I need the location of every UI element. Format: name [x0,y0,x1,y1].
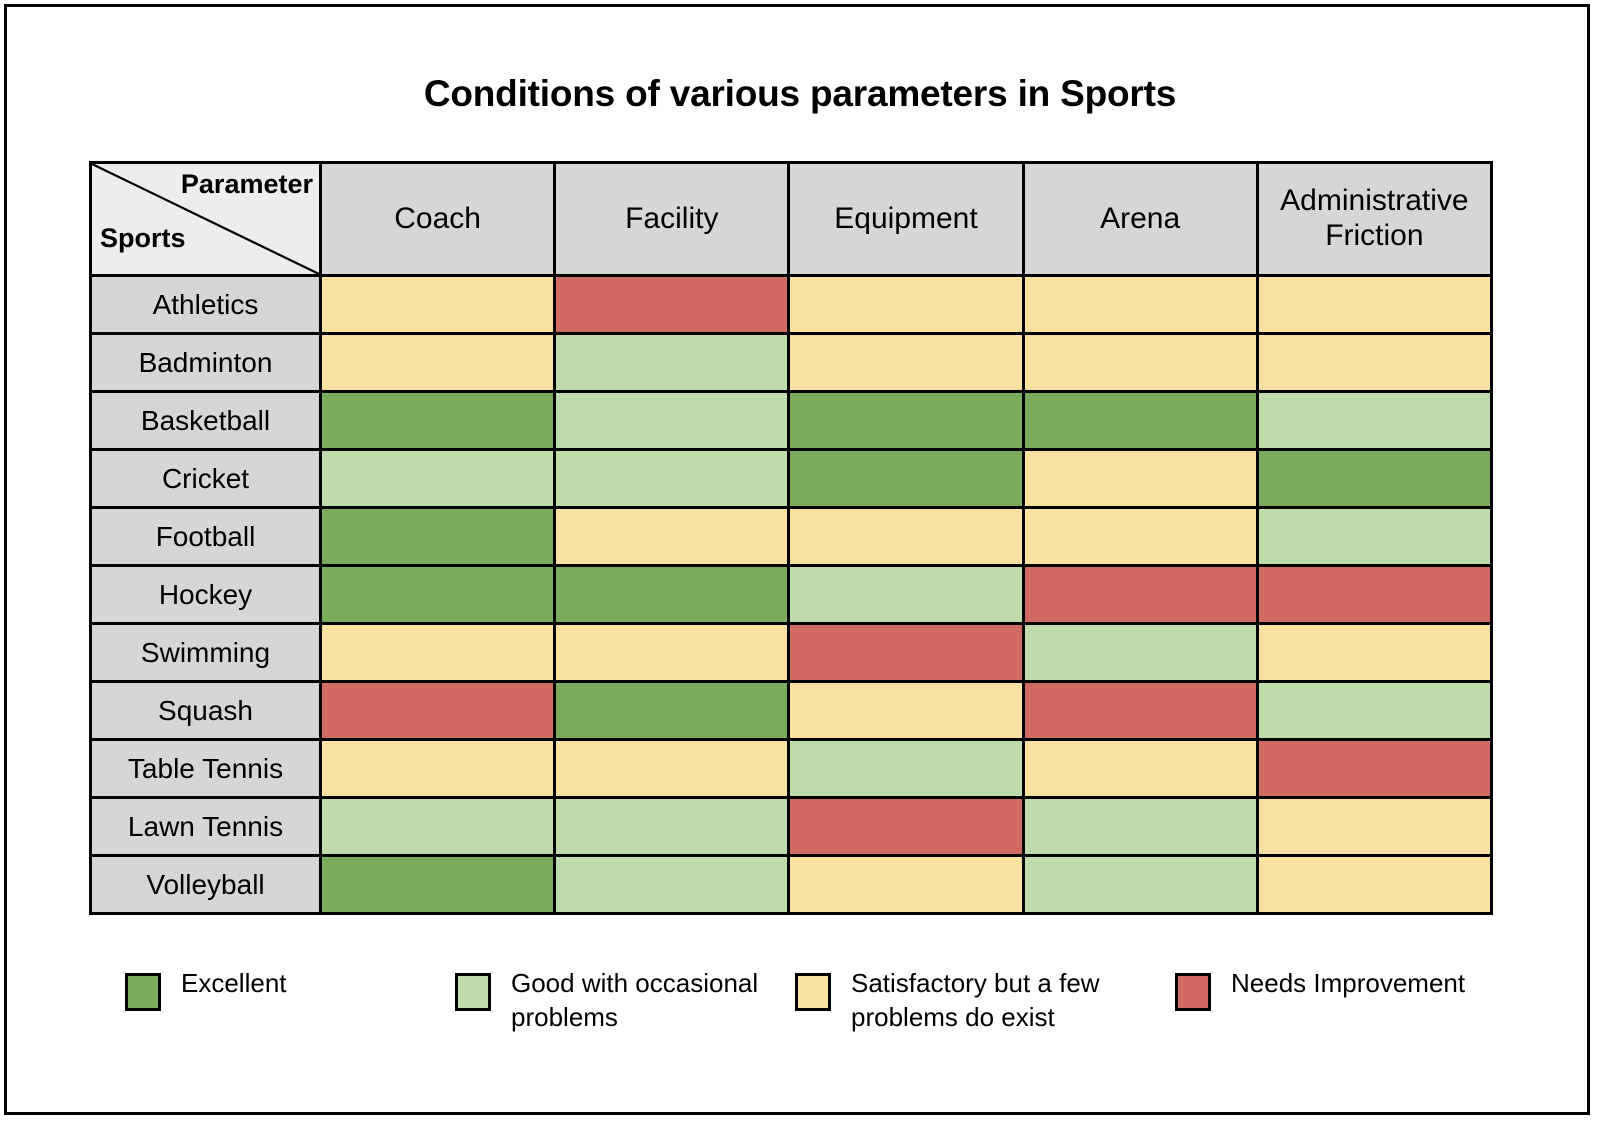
cell-badminton-equipment [789,334,1023,392]
cell-table-tennis-arena [1023,740,1257,798]
cell-cricket-coach [321,450,555,508]
table-row: Squash [91,682,1492,740]
column-header-equipment: Equipment [789,163,1023,276]
cell-volleyball-coach [321,856,555,914]
cell-volleyball-arena [1023,856,1257,914]
cell-lawn-tennis-administrative-friction [1257,798,1491,856]
row-header-volleyball: Volleyball [91,856,321,914]
legend-swatch-excellent [125,973,161,1011]
cell-cricket-arena [1023,450,1257,508]
row-header-football: Football [91,508,321,566]
cell-football-facility [555,508,789,566]
legend-label-needs-improvement: Needs Improvement [1231,967,1465,1001]
legend-label-good: Good with occasional problems [511,967,781,1035]
cell-table-tennis-coach [321,740,555,798]
cell-swimming-equipment [789,624,1023,682]
cell-hockey-equipment [789,566,1023,624]
cell-volleyball-equipment [789,856,1023,914]
cell-hockey-arena [1023,566,1257,624]
row-header-athletics: Athletics [91,276,321,334]
row-header-basketball: Basketball [91,392,321,450]
row-header-cricket: Cricket [91,450,321,508]
corner-axis-cell: Parameter Sports [91,163,321,276]
cell-lawn-tennis-facility [555,798,789,856]
column-header-administrative-friction: Administrative Friction [1257,163,1491,276]
page-title: Conditions of various parameters in Spor… [7,73,1593,115]
cell-volleyball-administrative-friction [1257,856,1491,914]
cell-cricket-equipment [789,450,1023,508]
cell-squash-facility [555,682,789,740]
row-header-lawn-tennis: Lawn Tennis [91,798,321,856]
legend-item-excellent: Excellent [125,967,455,1011]
cell-badminton-coach [321,334,555,392]
cell-badminton-facility [555,334,789,392]
cell-volleyball-facility [555,856,789,914]
table-row: Lawn Tennis [91,798,1492,856]
cell-athletics-equipment [789,276,1023,334]
cell-squash-equipment [789,682,1023,740]
row-header-swimming: Swimming [91,624,321,682]
legend-swatch-satisfactory [795,973,831,1011]
row-header-table-tennis: Table Tennis [91,740,321,798]
legend-swatch-needs-improvement [1175,973,1211,1011]
cell-badminton-administrative-friction [1257,334,1491,392]
cell-cricket-facility [555,450,789,508]
cell-football-arena [1023,508,1257,566]
row-header-squash: Squash [91,682,321,740]
cell-table-tennis-facility [555,740,789,798]
cell-badminton-arena [1023,334,1257,392]
cell-hockey-administrative-friction [1257,566,1491,624]
row-axis-label: Sports [100,224,186,252]
table-body: AthleticsBadmintonBasketballCricketFootb… [91,276,1492,914]
cell-lawn-tennis-equipment [789,798,1023,856]
cell-football-equipment [789,508,1023,566]
row-header-badminton: Badminton [91,334,321,392]
row-header-hockey: Hockey [91,566,321,624]
cell-basketball-coach [321,392,555,450]
cell-athletics-facility [555,276,789,334]
cell-basketball-equipment [789,392,1023,450]
column-header-facility: Facility [555,163,789,276]
table-row: Basketball [91,392,1492,450]
conditions-matrix-table: Parameter Sports Coach Facility Equipmen… [89,161,1493,915]
cell-swimming-facility [555,624,789,682]
table-row: Hockey [91,566,1492,624]
column-header-coach: Coach [321,163,555,276]
table-row: Athletics [91,276,1492,334]
cell-swimming-administrative-friction [1257,624,1491,682]
table-row: Swimming [91,624,1492,682]
legend-item-satisfactory: Satisfactory but a few problems do exist [795,967,1175,1035]
cell-hockey-facility [555,566,789,624]
cell-football-coach [321,508,555,566]
legend-label-excellent: Excellent [181,967,287,1001]
cell-swimming-coach [321,624,555,682]
cell-athletics-administrative-friction [1257,276,1491,334]
column-header-arena: Arena [1023,163,1257,276]
table-row: Volleyball [91,856,1492,914]
column-axis-label: Parameter [181,170,313,198]
cell-lawn-tennis-arena [1023,798,1257,856]
cell-table-tennis-equipment [789,740,1023,798]
cell-basketball-arena [1023,392,1257,450]
cell-lawn-tennis-coach [321,798,555,856]
legend-item-good: Good with occasional problems [455,967,795,1035]
table-row: Badminton [91,334,1492,392]
cell-squash-arena [1023,682,1257,740]
cell-athletics-arena [1023,276,1257,334]
cell-table-tennis-administrative-friction [1257,740,1491,798]
table-row: Football [91,508,1492,566]
cell-cricket-administrative-friction [1257,450,1491,508]
legend-label-satisfactory: Satisfactory but a few problems do exist [851,967,1121,1035]
cell-basketball-facility [555,392,789,450]
table-header-row: Parameter Sports Coach Facility Equipmen… [91,163,1492,276]
table-row: Table Tennis [91,740,1492,798]
table-row: Cricket [91,450,1492,508]
cell-football-administrative-friction [1257,508,1491,566]
cell-swimming-arena [1023,624,1257,682]
legend-swatch-good [455,973,491,1011]
cell-squash-administrative-friction [1257,682,1491,740]
cell-athletics-coach [321,276,555,334]
cell-squash-coach [321,682,555,740]
page-frame: Conditions of various parameters in Spor… [4,4,1590,1115]
legend: ExcellentGood with occasional problemsSa… [125,967,1525,1035]
cell-hockey-coach [321,566,555,624]
legend-item-needs-improvement: Needs Improvement [1175,967,1475,1011]
cell-basketball-administrative-friction [1257,392,1491,450]
